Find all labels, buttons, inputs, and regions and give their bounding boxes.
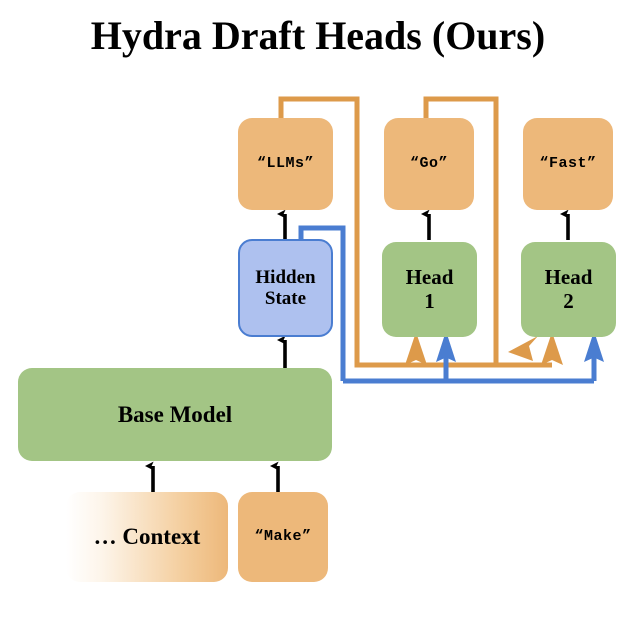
node-head-2-line1: Head	[545, 266, 593, 290]
node-base-model-label: Base Model	[118, 402, 232, 428]
node-head-2-labels: Head 2	[545, 266, 593, 313]
node-head-1-line1: Head	[406, 266, 454, 290]
node-token-make[interactable]: “Make”	[238, 492, 328, 582]
node-context-label: … Context	[94, 524, 201, 550]
node-hidden-state-line1: Hidden	[255, 267, 315, 288]
node-hidden-state[interactable]: Hidden State	[238, 239, 333, 337]
node-token-llms-label: “LLMs”	[257, 156, 314, 173]
node-token-go[interactable]: “Go”	[384, 118, 474, 210]
node-head-1-labels: Head 1	[406, 266, 454, 313]
arrowhead-orange-head2-diagonal	[508, 336, 538, 361]
node-head-2-line2: 2	[545, 290, 593, 314]
node-head-2[interactable]: Head 2	[521, 242, 616, 337]
node-token-go-label: “Go”	[410, 156, 448, 173]
diagram-canvas: Hydra Draft Heads (Ours)	[0, 0, 636, 618]
node-token-fast-label: “Fast”	[539, 156, 596, 173]
node-token-llms[interactable]: “LLMs”	[238, 118, 333, 210]
node-head-1[interactable]: Head 1	[382, 242, 477, 337]
node-token-fast[interactable]: “Fast”	[523, 118, 613, 210]
node-hidden-state-labels: Hidden State	[255, 267, 315, 310]
node-hidden-state-line2: State	[255, 288, 315, 309]
node-context[interactable]: … Context	[66, 492, 228, 582]
node-token-make-label: “Make”	[254, 529, 311, 546]
node-head-1-line2: 1	[406, 290, 454, 314]
node-base-model[interactable]: Base Model	[18, 368, 332, 461]
